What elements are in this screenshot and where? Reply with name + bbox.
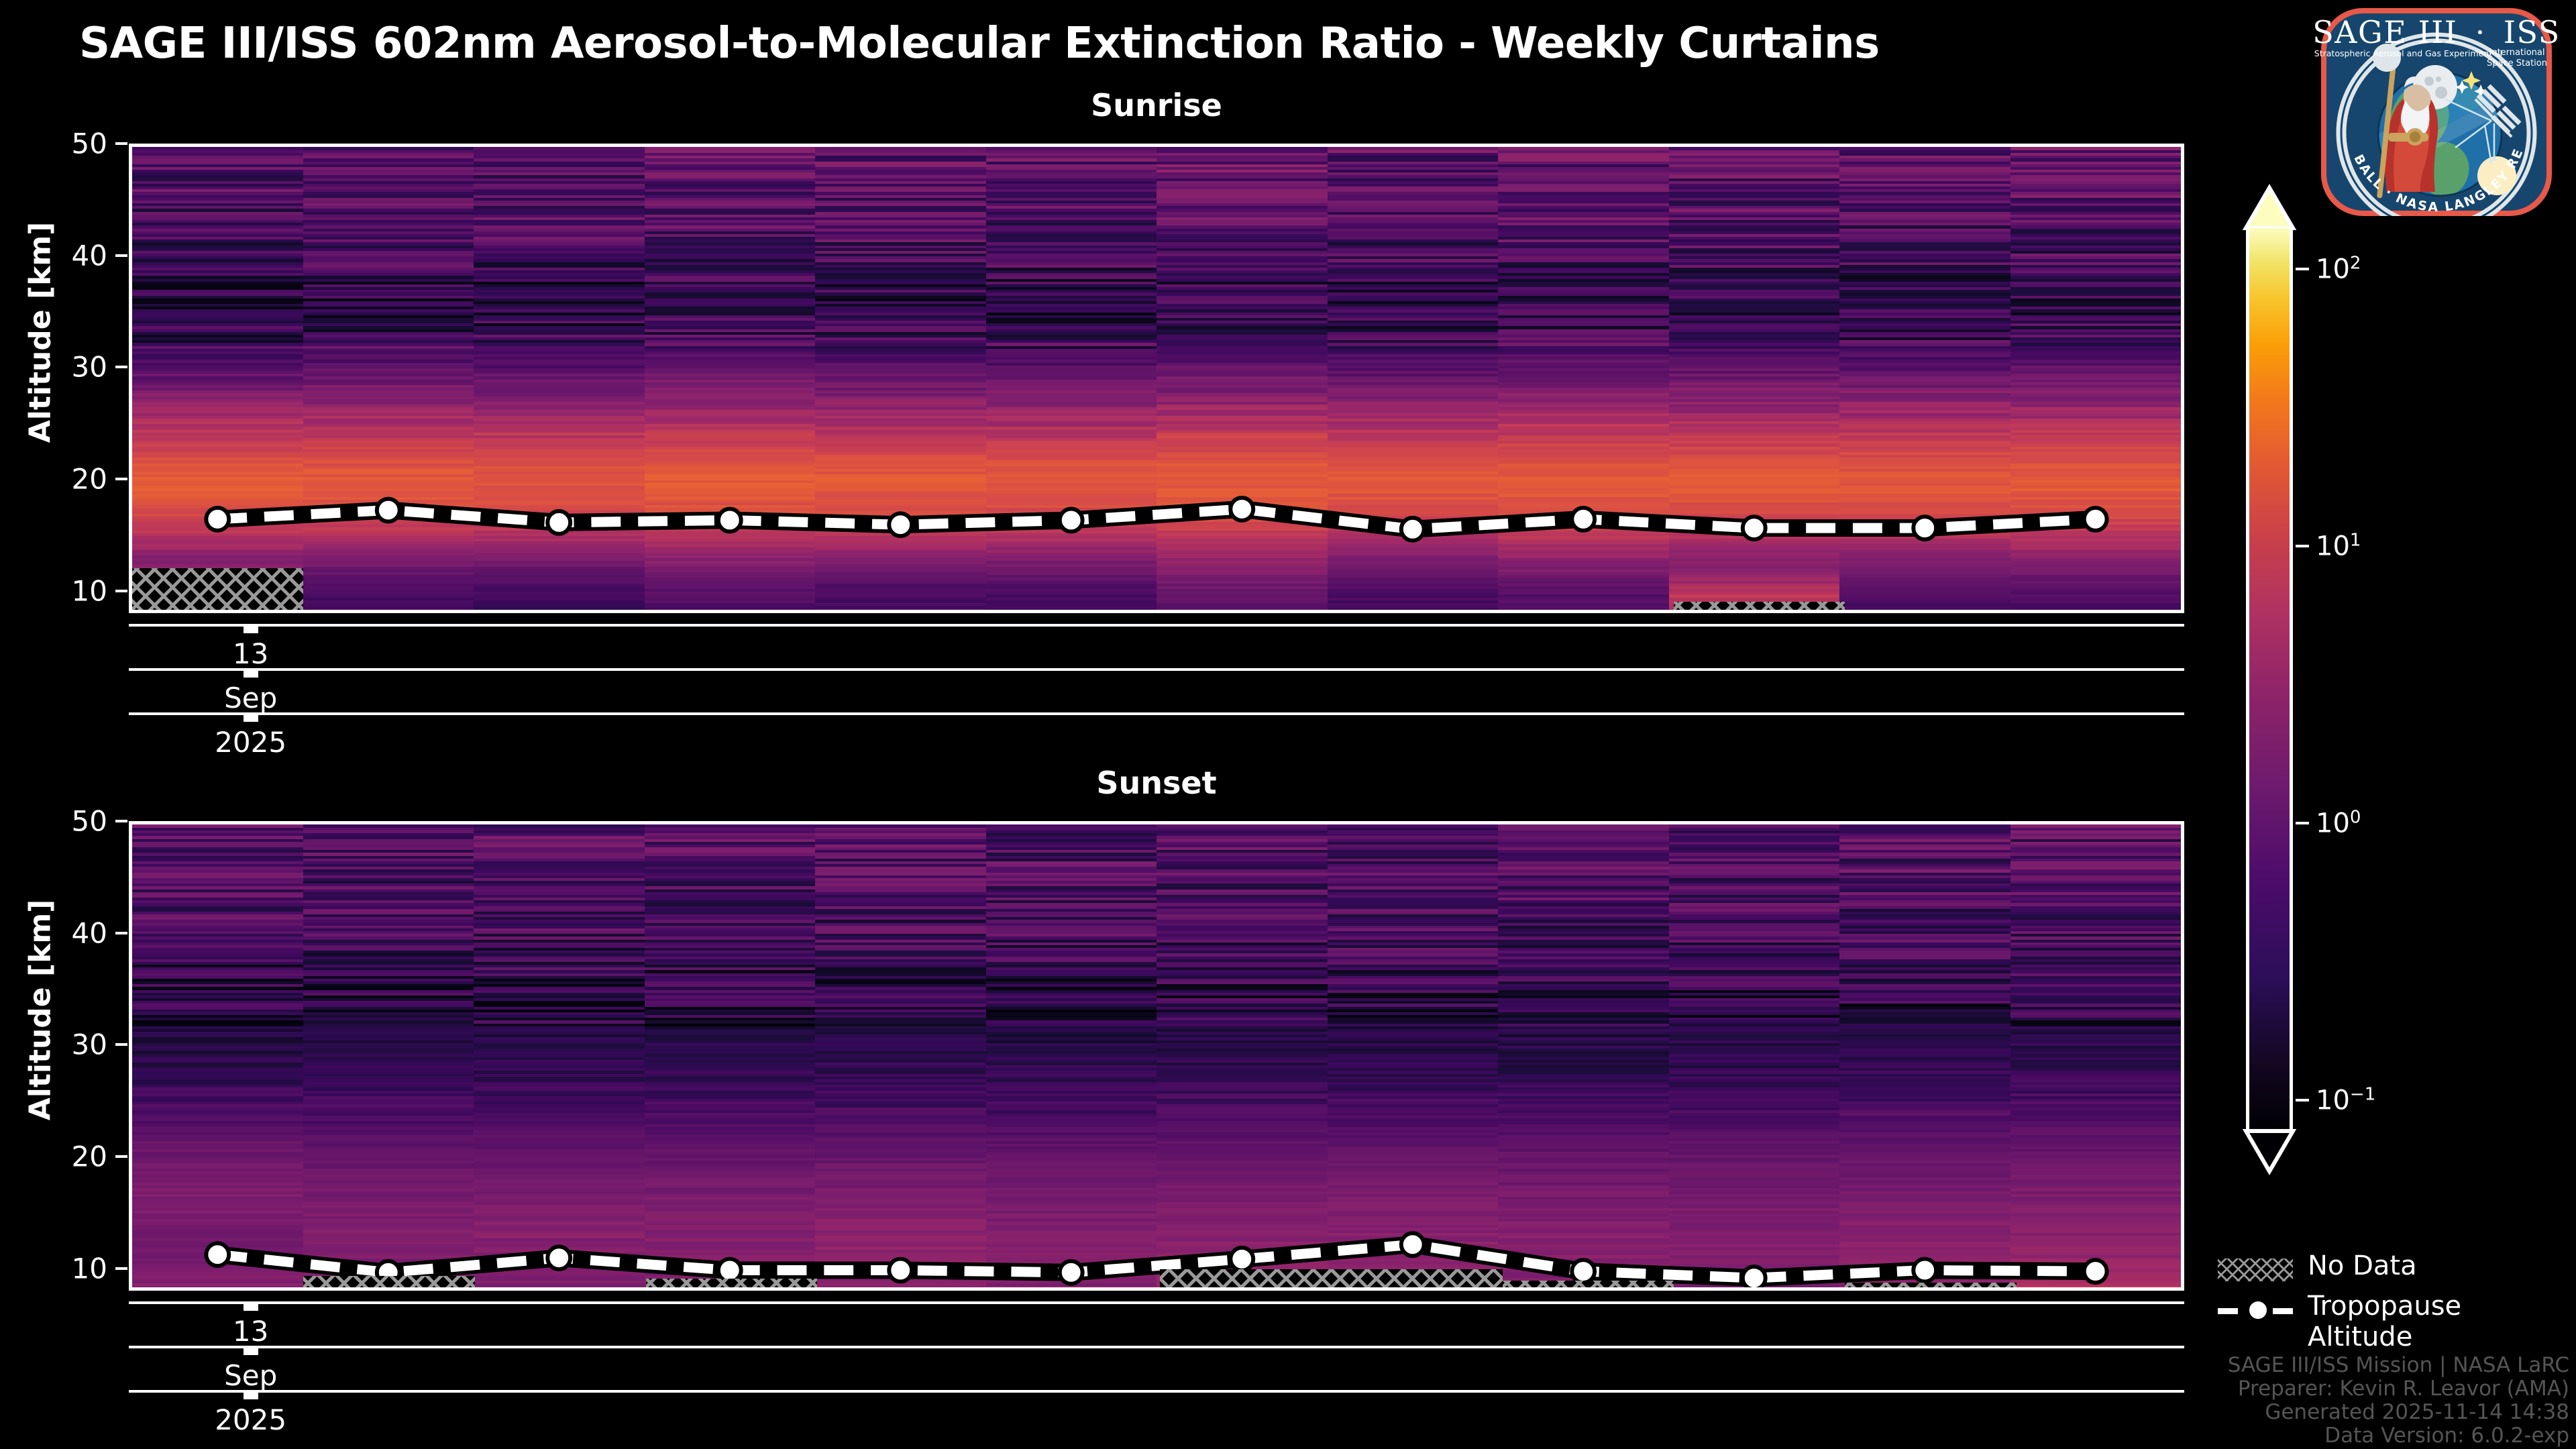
altitude-band — [474, 611, 645, 613]
altitude-band — [1669, 824, 1840, 828]
no-data-region — [1845, 1283, 2016, 1291]
altitude-band — [1498, 147, 1669, 150]
y-tick-mark — [115, 820, 127, 822]
colorbar-tick-label: 10−1 — [2316, 1085, 2375, 1116]
legend-label-tropopause: Tropopause Altitude — [2308, 1291, 2569, 1352]
colorbar-tick-label: 101 — [2316, 530, 2361, 561]
x-axis-level-line — [129, 1301, 2184, 1304]
footer-line-generated: Generated 2025-11-14 14:38 — [2228, 1401, 2569, 1424]
y-tick-label: 40 — [27, 239, 107, 272]
weekly-curtain-column — [1669, 147, 1840, 610]
y-tick-mark — [115, 590, 127, 592]
logo-title-main: SAGE III — [2312, 14, 2457, 50]
footer-line-data-version: Data Version: 6.0.2-exp — [2228, 1424, 2569, 1448]
altitude-band — [1157, 147, 1328, 150]
x-axis-month-label: Sep — [224, 682, 277, 714]
altitude-band — [1498, 611, 1669, 613]
svg-text:SAGE III · ISS: SAGE III · ISS — [2312, 14, 2560, 50]
colorbar-gradient — [2246, 228, 2293, 1131]
x-axis-level-line — [129, 624, 2184, 627]
legend-label-no-data: No Data — [2308, 1250, 2417, 1281]
altitude-band — [1669, 1289, 1840, 1291]
weekly-curtain-column — [303, 147, 474, 610]
weekly-curtain-column — [474, 147, 645, 610]
weekly-curtain-column — [132, 147, 303, 610]
no-data-region — [303, 1276, 474, 1291]
weekly-curtain-column — [474, 824, 645, 1287]
altitude-band — [986, 824, 1157, 828]
logo-subtitle-left: Stratospheric Aerosol and Gas Experiment… — [2314, 48, 2502, 58]
weekly-curtain-column — [986, 147, 1157, 610]
y-tick-mark — [115, 1043, 127, 1046]
x-axis-tick-nub — [244, 1390, 258, 1399]
colorbar-tick-mark — [2296, 1099, 2309, 1102]
no-data-region — [1503, 1281, 1674, 1291]
y-tick-mark — [115, 366, 127, 368]
altitude-band — [2010, 1289, 2182, 1291]
no-data-region — [132, 568, 303, 613]
y-tick-label: 20 — [27, 1140, 107, 1173]
y-tick-label: 50 — [27, 127, 107, 160]
weekly-curtain-column — [1328, 824, 1499, 1287]
weekly-curtain-column — [986, 824, 1157, 1287]
altitude-band — [645, 611, 816, 613]
no-data-region — [646, 1279, 817, 1291]
x-axis-day-label: 13 — [233, 637, 268, 670]
y-tick-mark — [115, 478, 127, 480]
x-axis-tick-nub — [244, 1301, 258, 1311]
weekly-curtain-column — [1498, 147, 1669, 610]
y-tick-mark — [115, 1155, 127, 1158]
y-tick-label: 50 — [27, 805, 107, 838]
altitude-band — [1669, 611, 1840, 613]
weekly-curtain-column — [815, 824, 986, 1287]
x-axis-tick-nub — [244, 668, 258, 678]
altitude-band — [1498, 1289, 1669, 1291]
altitude-band — [1328, 824, 1499, 828]
footer-line-preparer: Preparer: Kevin R. Leavor (AMA) — [2228, 1377, 2569, 1401]
panel-sunset-plot-area[interactable] — [129, 821, 2184, 1291]
weekly-curtain-column — [1328, 147, 1499, 610]
legend: No Data Tropopause Altitude — [2214, 1249, 2569, 1330]
altitude-band — [132, 824, 303, 828]
y-tick-label: 20 — [27, 463, 107, 496]
weekly-curtain-column — [2010, 147, 2182, 610]
legend-item-no-data[interactable]: No Data — [2214, 1249, 2569, 1289]
altitude-band — [474, 824, 645, 828]
colorbar-tick-mark — [2296, 545, 2309, 547]
footer-credits: SAGE III/ISS Mission | NASA LaRC Prepare… — [2228, 1354, 2569, 1448]
no-data-region — [1674, 602, 1845, 613]
colorbar[interactable]: 10210110010−1 — [2246, 186, 2293, 1173]
sage-iii-iss-mission-patch-logo: BALL · NASA LANGLEY RESEARCH CENTER · AS… — [2302, 5, 2571, 219]
panel-sunset: Sunset Altitude [km] 1020304050 13Sep202… — [0, 765, 2214, 1436]
altitude-band — [986, 1289, 1157, 1291]
altitude-band — [474, 1289, 645, 1291]
altitude-band — [986, 147, 1157, 150]
altitude-band — [815, 1289, 986, 1291]
y-tick-label: 10 — [27, 574, 107, 607]
x-axis-tick-nub — [244, 1346, 258, 1355]
altitude-band — [132, 1289, 303, 1291]
weekly-curtain-column — [645, 824, 816, 1287]
altitude-band — [986, 611, 1157, 613]
panel-sunrise-title: Sunrise — [129, 87, 2184, 123]
weekly-curtain-column — [1839, 824, 2010, 1287]
altitude-band — [1669, 147, 1840, 150]
altitude-band — [303, 611, 474, 613]
altitude-band — [1157, 1289, 1328, 1291]
y-tick-mark — [115, 142, 127, 145]
x-axis-level-line — [129, 668, 2184, 671]
footer-line-mission: SAGE III/ISS Mission | NASA LaRC — [2228, 1354, 2569, 1377]
altitude-band — [1498, 824, 1669, 828]
tropopause-marker-icon — [2247, 1299, 2269, 1321]
altitude-band — [2010, 147, 2182, 150]
x-axis-level-line — [129, 1346, 2184, 1348]
logo-title-sub: ISS — [2504, 14, 2561, 50]
weekly-curtain-column — [1669, 824, 1840, 1287]
no-data-region — [1160, 1269, 1503, 1291]
altitude-band — [1839, 824, 2010, 828]
colorbar-extend-min-outline — [2242, 1128, 2297, 1175]
weekly-curtain-column — [132, 824, 303, 1287]
panel-sunrise-plot-area[interactable] — [129, 144, 2184, 613]
altitude-band — [645, 147, 816, 150]
weekly-curtain-column — [815, 147, 986, 610]
altitude-band — [1839, 611, 2010, 613]
altitude-band — [1839, 147, 2010, 150]
y-tick-label: 40 — [27, 916, 107, 949]
logo-subtitle-right-1: International — [2489, 48, 2545, 58]
logo-subtitle-right-2: Space Station — [2487, 58, 2547, 68]
legend-item-tropopause[interactable]: Tropopause Altitude — [2214, 1289, 2569, 1330]
logo-title-dot: · — [2475, 14, 2486, 50]
altitude-band — [132, 147, 303, 150]
y-tick-label: 10 — [27, 1252, 107, 1285]
colorbar-tick-label: 102 — [2316, 253, 2361, 284]
altitude-band — [474, 147, 645, 150]
x-axis-year-label: 2025 — [215, 726, 286, 759]
weekly-curtain-column — [1157, 824, 1328, 1287]
altitude-band — [2010, 824, 2182, 828]
x-axis-tick-nub — [244, 712, 258, 722]
x-axis-day-label: 13 — [233, 1315, 268, 1348]
weekly-curtain-column — [1498, 824, 1669, 1287]
y-tick-mark — [115, 254, 127, 257]
y-tick-label: 30 — [27, 1028, 107, 1061]
x-axis-level-line — [129, 712, 2184, 715]
altitude-band — [132, 611, 303, 613]
weekly-curtain-column — [303, 824, 474, 1287]
altitude-band — [1328, 1289, 1499, 1291]
altitude-band — [815, 611, 986, 613]
altitude-band — [1157, 611, 1328, 613]
altitude-band — [303, 824, 474, 828]
weekly-curtain-column — [645, 147, 816, 610]
y-tick-label: 30 — [27, 351, 107, 384]
colorbar-tick-mark — [2296, 268, 2309, 270]
x-axis-month-label: Sep — [224, 1359, 277, 1392]
altitude-band — [1157, 824, 1328, 828]
altitude-band — [1328, 611, 1499, 613]
no-data-hatch-swatch-icon — [2218, 1258, 2293, 1281]
altitude-band — [645, 824, 816, 828]
x-axis-tick-nub — [244, 624, 258, 633]
weekly-curtain-column — [1839, 147, 2010, 610]
altitude-band — [303, 1289, 474, 1291]
panel-sunset-title: Sunset — [129, 765, 2184, 801]
weekly-curtain-column — [1157, 147, 1328, 610]
panel-sunrise: Sunrise Altitude [km] 1020304050 13Sep20… — [0, 87, 2214, 751]
altitude-band — [1839, 1289, 2010, 1291]
altitude-band — [303, 147, 474, 150]
y-tick-mark — [115, 1267, 127, 1270]
weekly-curtain-column — [2010, 824, 2182, 1287]
x-axis-level-line — [129, 1390, 2184, 1393]
colorbar-tick-mark — [2296, 822, 2309, 824]
altitude-band — [1328, 147, 1499, 150]
y-tick-mark — [115, 932, 127, 934]
altitude-band — [815, 824, 986, 828]
x-axis-year-label: 2025 — [215, 1403, 286, 1436]
colorbar-extend-max-outline — [2242, 184, 2297, 231]
colorbar-tick-label: 100 — [2316, 807, 2361, 839]
altitude-band — [815, 147, 986, 150]
altitude-band — [645, 1289, 816, 1291]
page-title: SAGE III/ISS 602nm Aerosol-to-Molecular … — [79, 19, 2025, 68]
altitude-band — [2010, 611, 2182, 613]
